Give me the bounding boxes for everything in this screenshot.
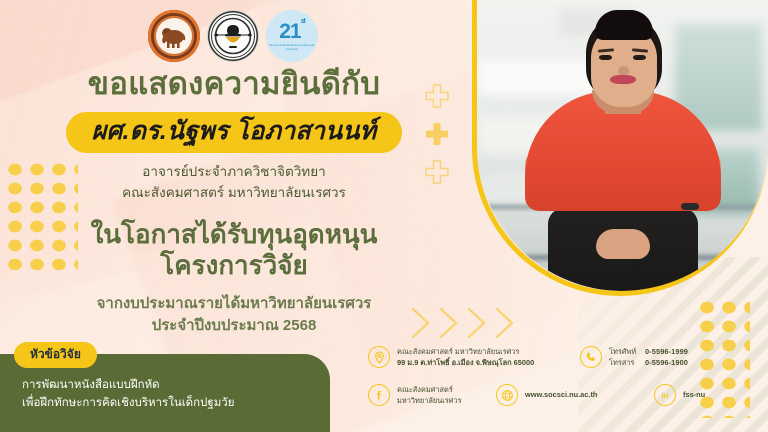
honoree-role: อาจารย์ประจำภาควิชาจิตวิทยา คณะสังคมศาสต… bbox=[0, 162, 468, 203]
role-line-2: คณะสังคมศาสตร์ มหาวิทยาลัยนเรศวร bbox=[0, 183, 468, 203]
budget-text: จากงบประมาณรายได้มหาวิทยาลัยนเรศวร ประจำ… bbox=[0, 293, 468, 337]
phone-value: 0-5596-1999 bbox=[645, 346, 688, 357]
contact-linkedin[interactable]: in fss-nu bbox=[654, 384, 705, 406]
congratulation-banner: 21st Faculty of Social Sciences Naresuan… bbox=[0, 0, 768, 432]
anniversary-number: 21st bbox=[279, 21, 305, 42]
logo-row: 21st Faculty of Social Sciences Naresuan… bbox=[148, 10, 318, 62]
research-topic: การพัฒนาหนังสือแบบฝึกหัด เพื่อฝึกทักษะกา… bbox=[22, 377, 234, 413]
budget-line-1: จากงบประมาณรายได้มหาวิทยาลัยนเรศวร bbox=[0, 293, 468, 315]
chevron-right-icon bbox=[492, 306, 518, 340]
location-pin-icon bbox=[368, 346, 390, 368]
facebook-line-2: มหาวิทยาลัยนเรศวร bbox=[397, 396, 462, 405]
research-topic-block: หัวข้อวิจัย การพัฒนาหนังสือแบบฝึกหัด เพื… bbox=[0, 354, 330, 432]
occasion-text: ในโอกาสได้รับทุนอุดหนุน โครงการวิจัย bbox=[0, 219, 468, 281]
contact-address: คณะสังคมศาสตร์ มหาวิทยาลัยนเรศวร 99 ม.9 … bbox=[368, 346, 534, 369]
portrait-panel bbox=[472, 0, 768, 296]
phone-label: โทรศัพท์ bbox=[609, 346, 637, 357]
phone-icon bbox=[580, 346, 602, 368]
research-badge: หัวข้อวิจัย bbox=[14, 342, 97, 368]
anniversary-caption: Faculty of Social Sciences Naresuan Univ… bbox=[269, 44, 315, 51]
university-seal-icon bbox=[210, 13, 256, 59]
contact-bar: คณะสังคมศาสตร์ มหาวิทยาลัยนเรศวร 99 ม.9 … bbox=[368, 344, 756, 420]
role-line-1: อาจารย์ประจำภาควิชาจิตวิทยา bbox=[0, 162, 468, 182]
facebook-line-1: คณะสังคมศาสตร์ bbox=[397, 385, 453, 394]
naresuan-university-seal-logo bbox=[208, 11, 258, 61]
occasion-line-2: โครงการวิจัย bbox=[0, 250, 468, 281]
contact-facebook[interactable]: คณะสังคมศาสตร์ มหาวิทยาลัยนเรศวร bbox=[368, 384, 462, 407]
honoree-name-badge: ผศ.ดร.นัฐพร โอภาสานนท์ bbox=[66, 112, 403, 154]
occasion-line-1: ในโอกาสได้รับทุนอุดหนุน bbox=[0, 219, 468, 250]
main-content: ขอแสดงความยินดีกับ ผศ.ดร.นัฐพร โอภาสานนท… bbox=[0, 66, 468, 337]
contact-phone: โทรศัพท์0-5596-1999 โทรสาร0-5596-1900 bbox=[580, 346, 688, 369]
elephant-icon bbox=[157, 19, 191, 53]
svg-text:in: in bbox=[662, 391, 669, 400]
portrait-gold-frame bbox=[472, 0, 768, 296]
address-line-2: 99 ม.9 ต.ท่าโพธิ์ อ.เมือง จ.พิษณุโลก 650… bbox=[397, 358, 534, 367]
21st-anniversary-logo: 21st Faculty of Social Sciences Naresuan… bbox=[266, 10, 318, 62]
linkedin-icon[interactable]: in bbox=[654, 384, 676, 406]
fax-label: โทรสาร bbox=[609, 357, 637, 368]
fax-value: 0-5596-1900 bbox=[645, 357, 688, 368]
address-line-1: คณะสังคมศาสตร์ มหาวิทยาลัยนเรศวร bbox=[397, 347, 520, 356]
facebook-icon[interactable] bbox=[368, 384, 390, 406]
naresuan-elephant-seal-logo bbox=[148, 10, 200, 62]
globe-icon[interactable] bbox=[496, 384, 518, 406]
research-topic-line-1: การพัฒนาหนังสือแบบฝึกหัด bbox=[22, 377, 234, 395]
contact-website[interactable]: www.socsci.nu.ac.th bbox=[496, 384, 597, 406]
research-topic-line-2: เพื่อฝึกทักษะการคิดเชิงบริหารในเด็กปฐมวั… bbox=[22, 395, 234, 413]
linkedin-handle: fss-nu bbox=[683, 390, 705, 399]
website-url: www.socsci.nu.ac.th bbox=[525, 390, 597, 399]
headline: ขอแสดงความยินดีกับ bbox=[0, 66, 468, 102]
budget-line-2: ประจำปีงบประมาณ 2568 bbox=[0, 315, 468, 337]
